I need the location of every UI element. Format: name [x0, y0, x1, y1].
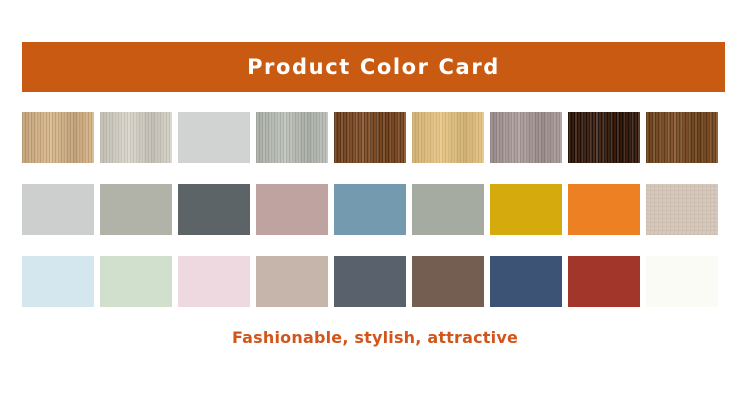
color-swatch-grey-oak[interactable]	[490, 112, 562, 163]
woodgrain-texture-overlay	[412, 112, 484, 163]
color-swatch-white-ash[interactable]	[100, 112, 172, 163]
color-swatch-slate-grey[interactable]	[334, 256, 406, 307]
color-swatch-sage-grey[interactable]	[412, 184, 484, 235]
color-swatch-cocoa-brown[interactable]	[412, 256, 484, 307]
color-swatch-mustard-yellow[interactable]	[490, 184, 562, 235]
woodgrain-texture-overlay	[490, 112, 562, 163]
color-swatch-steel-blue[interactable]	[334, 184, 406, 235]
color-swatch-light-grey[interactable]	[178, 112, 250, 163]
color-swatch-warm-grey[interactable]	[100, 184, 172, 235]
color-swatch-ice-blue[interactable]	[22, 256, 94, 307]
header-banner: Product Color Card	[22, 42, 725, 92]
color-swatch-dark-wenge[interactable]	[568, 112, 640, 163]
color-swatch-navy-denim[interactable]	[490, 256, 562, 307]
woodgrain-texture-overlay	[646, 184, 718, 235]
swatch-row	[22, 184, 725, 235]
woodgrain-texture-overlay	[256, 112, 328, 163]
woodgrain-texture-overlay	[646, 112, 718, 163]
color-swatch-bright-orange[interactable]	[568, 184, 640, 235]
page-title: Product Color Card	[247, 55, 500, 79]
color-swatch-off-white[interactable]	[646, 256, 718, 307]
color-swatch-taupe[interactable]	[256, 256, 328, 307]
color-swatch-blush-pink[interactable]	[178, 256, 250, 307]
color-swatch-walnut-medium[interactable]	[334, 112, 406, 163]
product-color-card: Product Color Card Fashionable, stylish,…	[0, 0, 750, 400]
woodgrain-texture-overlay	[568, 112, 640, 163]
color-swatch-mint-green[interactable]	[100, 256, 172, 307]
color-swatch-pale-grey[interactable]	[22, 184, 94, 235]
color-swatch-charcoal-grey[interactable]	[178, 184, 250, 235]
caption-text: Fashionable, stylish, attractive	[0, 328, 750, 347]
woodgrain-texture-overlay	[22, 112, 94, 163]
swatch-row	[22, 112, 725, 163]
color-swatch-brick-red[interactable]	[568, 256, 640, 307]
color-swatch-dusty-rose[interactable]	[256, 184, 328, 235]
swatch-row	[22, 256, 725, 307]
woodgrain-texture-overlay	[334, 112, 406, 163]
color-swatch-silver-grain[interactable]	[256, 112, 328, 163]
color-swatch-natural-oak[interactable]	[22, 112, 94, 163]
color-swatch-golden-beech[interactable]	[412, 112, 484, 163]
woodgrain-texture-overlay	[100, 112, 172, 163]
color-swatch-rich-walnut[interactable]	[646, 112, 718, 163]
color-swatch-sand-beige[interactable]	[646, 184, 718, 235]
color-swatch-grid	[22, 112, 725, 307]
